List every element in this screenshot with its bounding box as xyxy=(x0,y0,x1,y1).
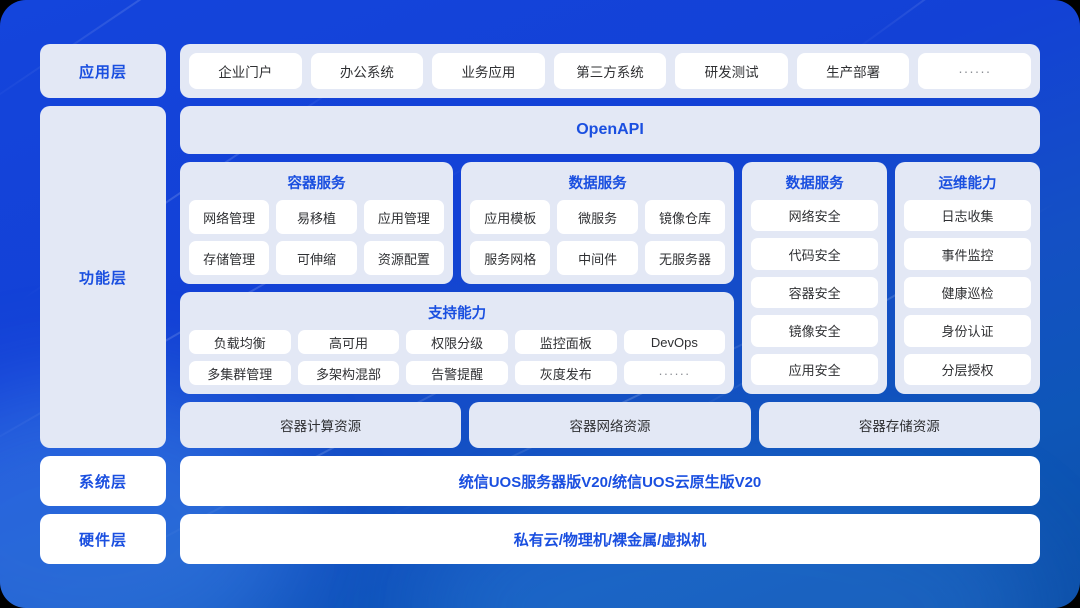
panel-title-support-capability: 支持能力 xyxy=(189,299,725,330)
container-resources-row: 容器计算资源 容器网络资源 容器存储资源 xyxy=(180,402,1040,448)
cell-gray-release[interactable]: 灰度发布 xyxy=(515,361,617,385)
cell-middleware[interactable]: 中间件 xyxy=(557,241,637,275)
support-capability-grid: 负载均衡 高可用 权限分级 监控面板 DevOps 多集群管理 多架构混部 告警… xyxy=(189,330,725,385)
panel-data-service: 数据服务 应用模板 微服务 镜像仓库 服务网格 中间件 无服务器 xyxy=(461,162,734,284)
resource-compute[interactable]: 容器计算资源 xyxy=(180,402,461,448)
cell-code-security[interactable]: 代码安全 xyxy=(751,238,878,269)
cell-easy-migration[interactable]: 易移植 xyxy=(276,200,356,234)
security-service-list: 网络安全 代码安全 容器安全 镜像安全 应用安全 xyxy=(751,200,878,385)
panel-security-service: 数据服务 网络安全 代码安全 容器安全 镜像安全 应用安全 xyxy=(742,162,887,394)
function-left-column: 容器服务 网络管理 易移植 应用管理 存储管理 可伸缩 资源配置 xyxy=(180,162,734,394)
layer-label-system: 系统层 xyxy=(40,456,166,506)
layer-label-function: 功能层 xyxy=(40,106,166,448)
cell-devops[interactable]: DevOps xyxy=(624,330,726,354)
architecture-diagram: 应用层 企业门户 办公系统 业务应用 第三方系统 研发测试 生产部署 ·····… xyxy=(0,0,1080,608)
application-items-strip: 企业门户 办公系统 业务应用 第三方系统 研发测试 生产部署 ······ xyxy=(180,44,1040,98)
panel-support-capability: 支持能力 负载均衡 高可用 权限分级 监控面板 DevOps 多集群管理 多架构… xyxy=(180,292,734,394)
application-layer-row: 应用层 企业门户 办公系统 业务应用 第三方系统 研发测试 生产部署 ·····… xyxy=(40,44,1040,98)
layer-label-application: 应用层 xyxy=(40,44,166,98)
function-panels-area: 容器服务 网络管理 易移植 应用管理 存储管理 可伸缩 资源配置 xyxy=(180,162,1040,394)
cell-application-template[interactable]: 应用模板 xyxy=(470,200,550,234)
service-panels-row: 容器服务 网络管理 易移植 应用管理 存储管理 可伸缩 资源配置 xyxy=(180,162,734,284)
cell-image-security[interactable]: 镜像安全 xyxy=(751,315,878,346)
cell-support-more[interactable]: ······ xyxy=(624,361,726,385)
cell-serverless[interactable]: 无服务器 xyxy=(645,241,725,275)
cell-service-mesh[interactable]: 服务网格 xyxy=(470,241,550,275)
panel-container-service: 容器服务 网络管理 易移植 应用管理 存储管理 可伸缩 资源配置 xyxy=(180,162,453,284)
cell-application-security[interactable]: 应用安全 xyxy=(751,354,878,385)
cell-storage-management[interactable]: 存储管理 xyxy=(189,241,269,275)
cell-multi-architecture-colocation[interactable]: 多架构混部 xyxy=(298,361,400,385)
cell-high-availability[interactable]: 高可用 xyxy=(298,330,400,354)
cell-network-management[interactable]: 网络管理 xyxy=(189,200,269,234)
cell-identity-authentication[interactable]: 身份认证 xyxy=(904,315,1031,346)
layer-label-hardware: 硬件层 xyxy=(40,514,166,564)
cell-scalability[interactable]: 可伸缩 xyxy=(276,241,356,275)
app-item-enterprise-portal[interactable]: 企业门户 xyxy=(189,53,302,89)
cell-multi-cluster-management[interactable]: 多集群管理 xyxy=(189,361,291,385)
cell-load-balancing[interactable]: 负载均衡 xyxy=(189,330,291,354)
cell-event-monitoring[interactable]: 事件监控 xyxy=(904,238,1031,269)
container-service-grid: 网络管理 易移植 应用管理 存储管理 可伸缩 资源配置 xyxy=(189,200,444,275)
openapi-bar[interactable]: OpenAPI xyxy=(180,106,1040,154)
resource-network[interactable]: 容器网络资源 xyxy=(469,402,750,448)
layer-board: 应用层 企业门户 办公系统 业务应用 第三方系统 研发测试 生产部署 ·····… xyxy=(40,44,1040,564)
hardware-layer-value[interactable]: 私有云/物理机/裸金属/虚拟机 xyxy=(180,514,1040,564)
app-item-production-deployment[interactable]: 生产部署 xyxy=(797,53,910,89)
cell-health-inspection[interactable]: 健康巡检 xyxy=(904,277,1031,308)
function-layer-row: 功能层 OpenAPI 容器服务 网络管理 易移植 应用管理 xyxy=(40,106,1040,448)
app-item-rd-testing[interactable]: 研发测试 xyxy=(675,53,788,89)
cell-layered-authorization[interactable]: 分层授权 xyxy=(904,354,1031,385)
cell-log-collection[interactable]: 日志收集 xyxy=(904,200,1031,231)
cell-alert-reminder[interactable]: 告警提醒 xyxy=(406,361,508,385)
cell-network-security[interactable]: 网络安全 xyxy=(751,200,878,231)
ops-capability-list: 日志收集 事件监控 健康巡检 身份认证 分层授权 xyxy=(904,200,1031,385)
cell-microservice[interactable]: 微服务 xyxy=(557,200,637,234)
cell-monitoring-dashboard[interactable]: 监控面板 xyxy=(515,330,617,354)
system-layer-value[interactable]: 统信UOS服务器版V20/统信UOS云原生版V20 xyxy=(180,456,1040,506)
app-item-office-system[interactable]: 办公系统 xyxy=(311,53,424,89)
app-item-more[interactable]: ······ xyxy=(918,53,1031,89)
data-service-grid: 应用模板 微服务 镜像仓库 服务网格 中间件 无服务器 xyxy=(470,200,725,275)
panel-title-data-service: 数据服务 xyxy=(470,169,725,200)
panel-ops-capability: 运维能力 日志收集 事件监控 健康巡检 身份认证 分层授权 xyxy=(895,162,1040,394)
app-item-business-application[interactable]: 业务应用 xyxy=(432,53,545,89)
panel-title-security-service: 数据服务 xyxy=(751,169,878,200)
panel-title-ops-capability: 运维能力 xyxy=(904,169,1031,200)
cell-resource-configuration[interactable]: 资源配置 xyxy=(364,241,444,275)
cell-container-security[interactable]: 容器安全 xyxy=(751,277,878,308)
panel-title-container-service: 容器服务 xyxy=(189,169,444,200)
resource-storage[interactable]: 容器存储资源 xyxy=(759,402,1040,448)
system-layer-row: 系统层 统信UOS服务器版V20/统信UOS云原生版V20 xyxy=(40,456,1040,506)
app-item-third-party-system[interactable]: 第三方系统 xyxy=(554,53,667,89)
cell-image-repository[interactable]: 镜像仓库 xyxy=(645,200,725,234)
hardware-layer-row: 硬件层 私有云/物理机/裸金属/虚拟机 xyxy=(40,514,1040,564)
function-layer-body: OpenAPI 容器服务 网络管理 易移植 应用管理 存储管理 xyxy=(180,106,1040,448)
cell-permission-grading[interactable]: 权限分级 xyxy=(406,330,508,354)
cell-application-management[interactable]: 应用管理 xyxy=(364,200,444,234)
